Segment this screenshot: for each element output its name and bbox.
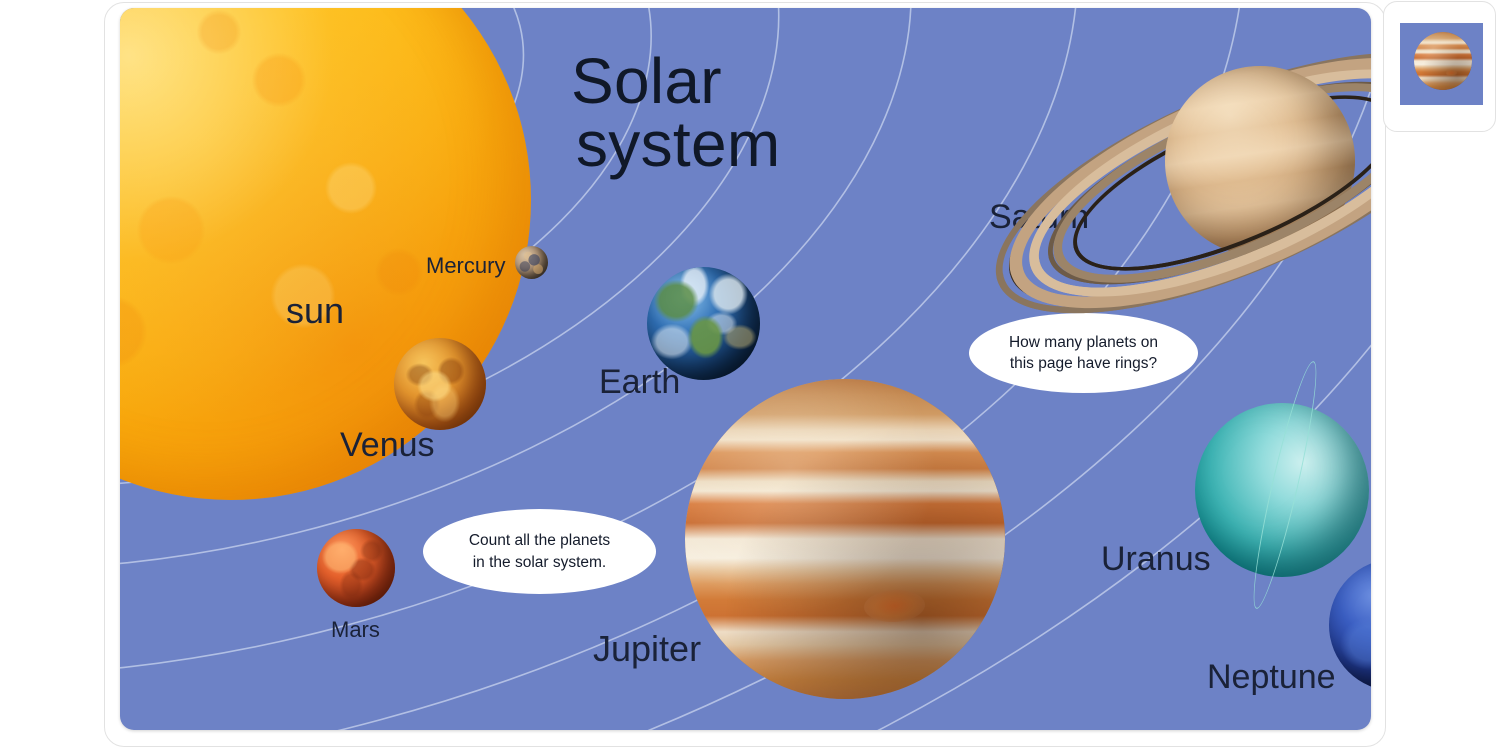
jupiter-thumbnail-shading	[1414, 32, 1472, 90]
bubble-rings-question: How many planets on this page have rings…	[969, 313, 1198, 393]
bubble-rings-line1: How many planets on	[1009, 332, 1158, 353]
page-title: Solar system	[571, 50, 781, 175]
saturn-group	[975, 18, 1371, 348]
bubble-count-line1: Count all the planets	[469, 530, 610, 551]
label-mars: Mars	[331, 617, 380, 643]
label-neptune: Neptune	[1207, 658, 1336, 697]
bubble-count-planets: Count all the planets in the solar syste…	[423, 509, 656, 594]
solar-system-page: Solar system sun Mercury Venus Earth Mar…	[120, 8, 1371, 730]
jupiter-thumbnail-icon	[1414, 32, 1472, 90]
label-sun: sun	[286, 290, 344, 332]
mars-body	[317, 529, 395, 607]
mercury-body	[515, 246, 548, 279]
screenshot-root: Solar system sun Mercury Venus Earth Mar…	[0, 0, 1500, 751]
label-earth: Earth	[599, 363, 680, 402]
bubble-count-line2: in the solar system.	[469, 552, 610, 573]
label-venus: Venus	[340, 426, 435, 465]
venus-body	[394, 338, 486, 430]
label-jupiter: Jupiter	[593, 628, 701, 670]
jupiter-body	[685, 379, 1005, 699]
jupiter-shading	[685, 379, 1005, 699]
page-title-line1: Solar	[571, 50, 781, 113]
bubble-rings-line2: this page have rings?	[1009, 353, 1158, 374]
label-uranus: Uranus	[1101, 540, 1211, 579]
thumbnail-image[interactable]	[1400, 23, 1483, 105]
label-mercury: Mercury	[426, 253, 505, 279]
page-title-line2: system	[576, 113, 781, 176]
